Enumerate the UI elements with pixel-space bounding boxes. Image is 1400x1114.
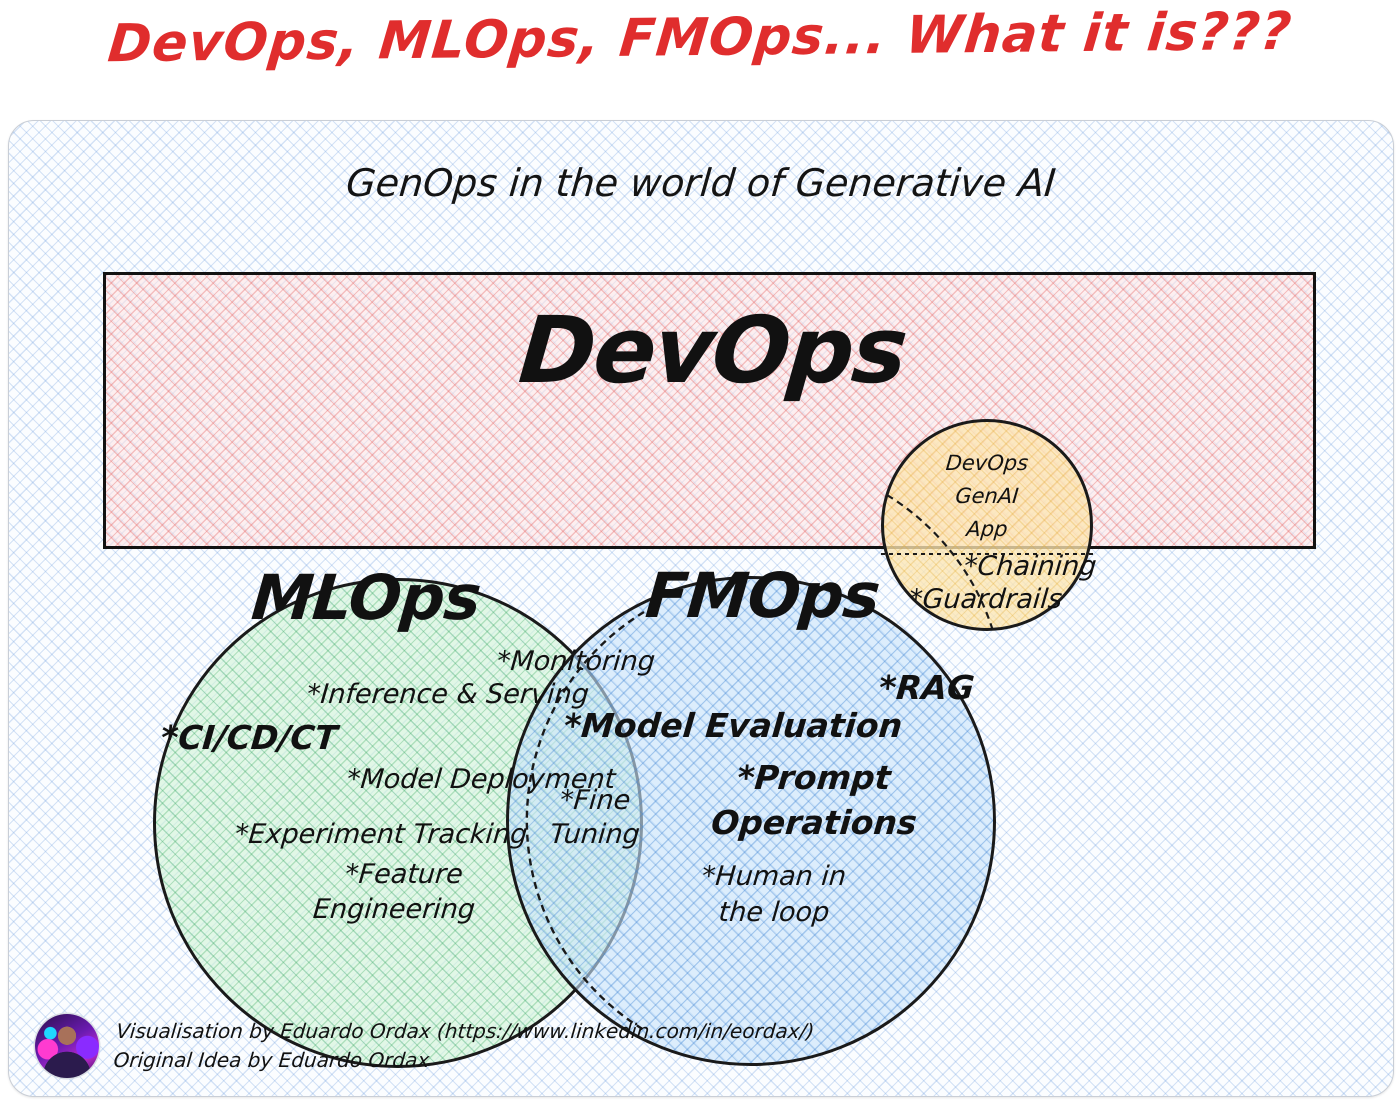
overlap-item-monitoring: *Monitoring	[496, 648, 656, 676]
credits-text: Visualisation by Eduardo Ordax (https://…	[112, 1017, 815, 1075]
mlops-item-experiment-tracking: *Experiment Tracking	[234, 821, 529, 849]
credits-line-2: Original Idea by Eduardo Ordax	[112, 1046, 812, 1075]
avatar	[35, 1014, 99, 1078]
fmops-item-human-in-the-loop-line1: *Human in	[668, 863, 880, 891]
genai-heading-line1: DevOps	[880, 451, 1094, 475]
mlops-item-inference-serving: *Inference & Serving	[306, 681, 590, 709]
fmops-label: FMOps	[643, 559, 882, 632]
fmops-item-rag: *RAG	[877, 671, 975, 706]
page-title: DevOps, MLOps, FMOps... What it is???	[0, 1, 1400, 76]
fmops-item-model-evaluation: *Model Evaluation	[562, 709, 903, 744]
footer-credits: Visualisation by Eduardo Ordax (https://…	[35, 1014, 813, 1078]
genai-item-chaining: *Chaining	[963, 553, 1098, 581]
fmops-item-human-in-the-loop-line2: the loop	[668, 899, 880, 927]
mlops-item-ci-cd-ct: *CI/CD/CT	[159, 721, 338, 756]
mlops-item-feature-engineering-line1: *Feature	[308, 861, 500, 889]
overlap-item-fine-tuning-line1: *Fine	[559, 787, 632, 815]
genai-heading-line3: App	[880, 517, 1094, 541]
diagram-canvas: GenOps in the world of Generative AI Dev…	[8, 120, 1394, 1097]
overlap-item-fine-tuning-line2: Tuning	[549, 821, 641, 849]
mlops-item-feature-engineering-line2: Engineering	[298, 896, 490, 924]
mlops-label: MLOps	[249, 561, 483, 634]
genai-item-guardrails: *Guardrails	[908, 586, 1064, 614]
genai-heading-line2: GenAI	[880, 484, 1094, 508]
devops-region: DevOps	[103, 272, 1316, 549]
diagram-subtitle: GenOps in the world of Generative AI	[8, 161, 1394, 205]
fmops-item-prompt-operations-line2: Operations	[697, 806, 930, 841]
credits-line-1: Visualisation by Eduardo Ordax (https://…	[115, 1017, 815, 1046]
fmops-item-prompt-operations-line1: *Prompt	[707, 761, 920, 796]
devops-region-label: DevOps	[101, 297, 1323, 404]
